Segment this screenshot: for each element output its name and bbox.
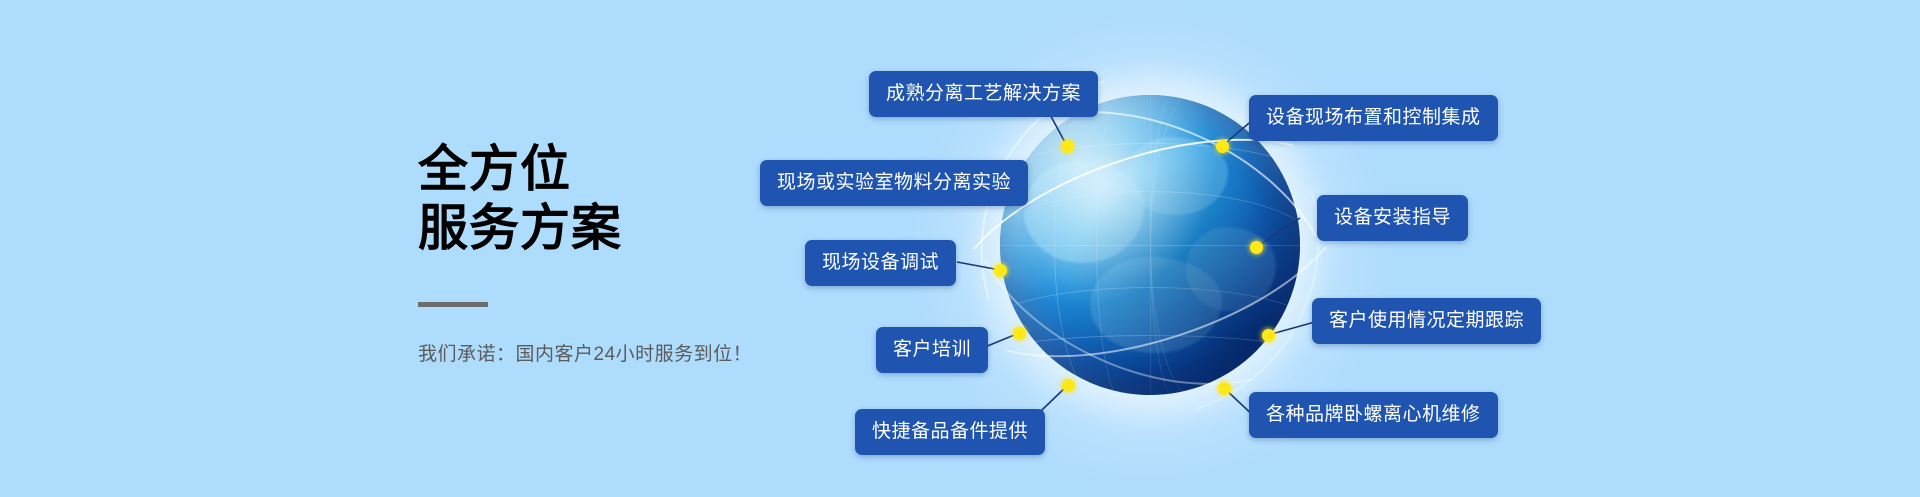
landmass-icon — [1126, 137, 1228, 215]
connector-dot — [1262, 329, 1275, 342]
connector-dot — [1250, 241, 1263, 254]
title-divider — [418, 302, 488, 307]
connector-dot — [1218, 382, 1231, 395]
landmass-icon — [1090, 257, 1222, 353]
connector-dot — [994, 264, 1007, 277]
service-label-fast-spare-parts[interactable]: 快捷备品备件提供 — [855, 409, 1045, 455]
service-label-onsite-commissioning[interactable]: 现场设备调试 — [805, 240, 956, 286]
service-label-onsite-lab-separation-test[interactable]: 现场或实验室物料分离实验 — [760, 160, 1028, 206]
service-label-periodic-usage-tracking[interactable]: 客户使用情况定期跟踪 — [1312, 298, 1541, 344]
service-banner: 全方位 服务方案 我们承诺：国内客户24小时服务到位！ — [0, 0, 1920, 497]
service-label-installation-guidance[interactable]: 设备安装指导 — [1317, 195, 1468, 241]
connector-dot — [1216, 140, 1229, 153]
connector-dot — [1013, 327, 1026, 340]
service-label-decanter-centrifuge-repair[interactable]: 各种品牌卧螺离心机维修 — [1249, 392, 1498, 438]
connector-dot — [1061, 140, 1074, 153]
connector-dot — [1062, 379, 1075, 392]
service-label-equipment-layout-control-integration[interactable]: 设备现场布置和控制集成 — [1249, 95, 1498, 141]
landmass-icon — [1186, 227, 1276, 311]
service-label-mature-separation-process[interactable]: 成熟分离工艺解决方案 — [869, 71, 1098, 117]
landmass-icon — [1024, 161, 1144, 263]
subtitle: 我们承诺：国内客户24小时服务到位！ — [418, 339, 838, 366]
service-label-customer-training[interactable]: 客户培训 — [876, 327, 988, 373]
